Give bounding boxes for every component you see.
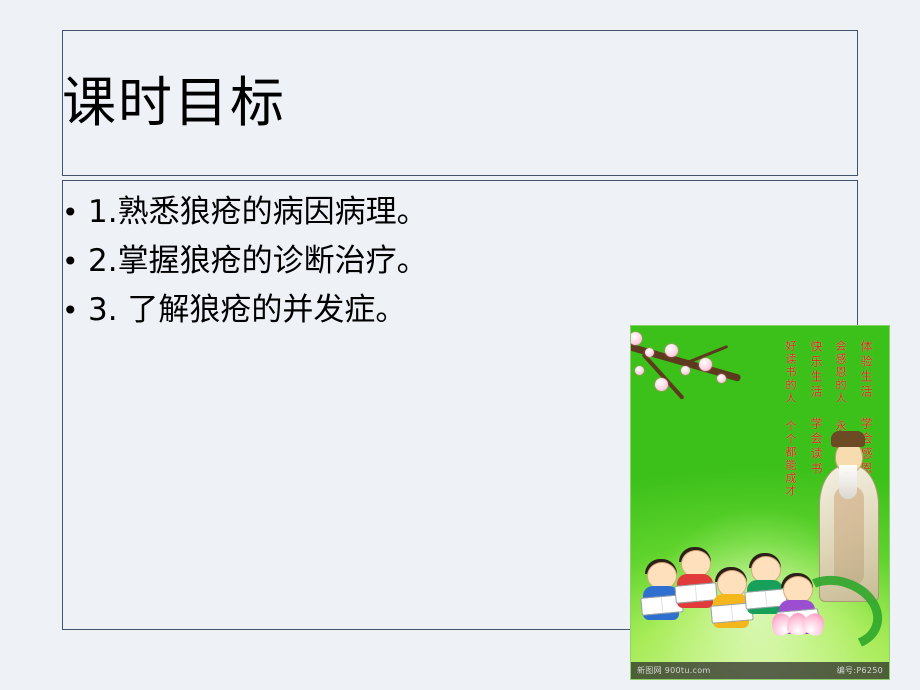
list-item: • 2.掌握狼疮的诊断治疗。 [62,237,762,286]
slide-canvas: 课时目标 • 1.熟悉狼疮的病因病理。 • 2.掌握狼疮的诊断治疗。 • 3. … [0,0,920,690]
list-item-text: 2.掌握狼疮的诊断治疗。 [88,237,428,286]
bullet-marker-icon: • [62,237,88,286]
list-item: • 1.熟悉狼疮的病因病理。 [62,188,762,237]
list-item-text: 1.熟悉狼疮的病因病理。 [88,188,428,237]
bullet-list: • 1.熟悉狼疮的病因病理。 • 2.掌握狼疮的诊断治疗。 • 3. 了解狼疮的… [62,188,762,335]
page-title: 课时目标 [62,68,286,138]
plum-branch-icon [630,325,755,432]
poster-watermark: 新图网 900tu.com 编号:P6250 [631,662,889,679]
watermark-source: 新图网 900tu.com [637,662,711,679]
poem-column: 好读书的人 个个都能成才 [783,340,798,550]
list-item-text: 3. 了解狼疮的并发症。 [88,286,406,335]
bullet-marker-icon: • [62,286,88,335]
bullet-marker-icon: • [62,188,88,237]
watermark-id: 编号:P6250 [837,662,883,679]
poster-image: 体验生活 学会感恩 会感恩的人 永远不会孤独 快乐生活 学会读书 好读书的人 个… [630,325,890,680]
